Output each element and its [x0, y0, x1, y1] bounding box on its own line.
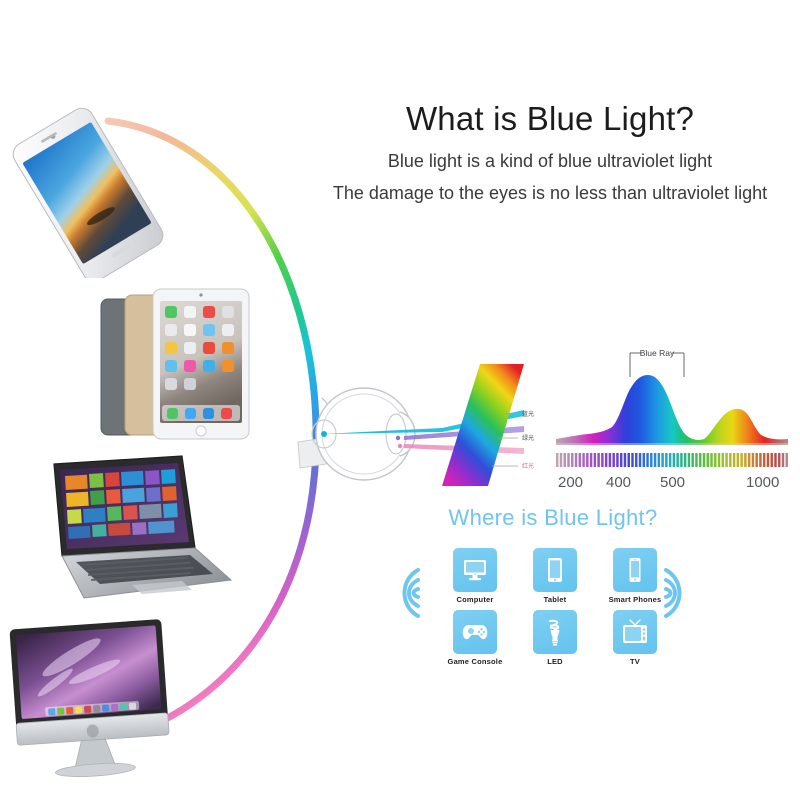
laptop-photo [32, 452, 237, 612]
gamepad-icon [453, 610, 497, 654]
source-item-computer[interactable]: Computer [440, 548, 510, 604]
where-section-title: Where is Blue Light? [418, 505, 688, 531]
monitor-icon [453, 548, 497, 592]
desktop-monitor-photo [0, 600, 185, 785]
smartphone-photo [2, 108, 172, 278]
axis-tick-labels: 200 400 500 1000 [558, 474, 779, 491]
television-icon [613, 610, 657, 654]
bulb-icon [533, 610, 577, 654]
subtitle-line-2: The damage to the eyes is no less than u… [300, 180, 800, 208]
smartphone-icon [613, 548, 657, 592]
headline-block: What is Blue Light? Blue light is a kind… [300, 100, 800, 208]
source-item-game-console[interactable]: Game Console [440, 610, 510, 666]
tick-400: 400 [606, 474, 631, 491]
source-label: Computer [440, 595, 510, 604]
tick-200: 200 [558, 474, 583, 491]
source-label: TV [600, 657, 670, 666]
source-item-smart-phones[interactable]: Smart Phones [600, 548, 670, 604]
source-label: Smart Phones [600, 595, 670, 604]
page-title: What is Blue Light? [300, 100, 800, 138]
source-label: Tablet [520, 595, 590, 604]
blue-light-source-grid: Computer Tablet Smart Pho [440, 548, 670, 666]
signal-wave-left-icon [378, 558, 424, 628]
source-item-tablet[interactable]: Tablet [520, 548, 590, 604]
tick-500: 500 [660, 474, 685, 491]
ray-label-red: 红光 [522, 462, 534, 470]
source-item-tv[interactable]: TV [600, 610, 670, 666]
blue-ray-label: Blue Ray [640, 348, 675, 358]
subtitle-line-1: Blue light is a kind of blue ultraviolet… [300, 148, 800, 176]
ray-label-green: 绿光 [522, 434, 534, 442]
tick-1000: 1000 [746, 474, 779, 491]
infographic-canvas: What is Blue Light? Blue light is a kind… [0, 0, 800, 800]
spectrum-colorbar [556, 453, 788, 467]
spectrum-chart: Blue Ray 200 400 500 1000 [548, 335, 798, 495]
eye-light-refraction-diagram: 蓝光 绿光 红光 [292, 356, 542, 501]
source-item-led[interactable]: LED [520, 610, 590, 666]
tablet-icon [533, 548, 577, 592]
source-label: Game Console [440, 657, 510, 666]
ray-label-blue: 蓝光 [522, 410, 534, 418]
tablet-photo [95, 275, 260, 450]
source-label: LED [520, 657, 590, 666]
